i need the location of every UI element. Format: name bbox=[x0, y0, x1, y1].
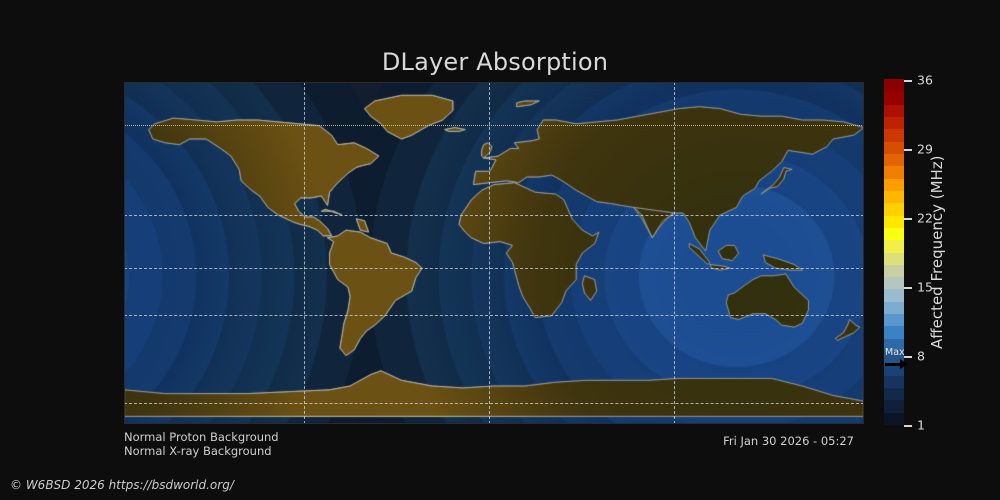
colorbar-band bbox=[884, 326, 904, 339]
colorbar-band bbox=[884, 240, 904, 253]
map-gridlines bbox=[124, 82, 864, 424]
colorbar-band bbox=[884, 129, 904, 142]
page-title: DLayer Absorption bbox=[0, 48, 990, 76]
colorbar-band bbox=[884, 314, 904, 327]
gridline-arctic-circle bbox=[124, 125, 864, 126]
colorbar-band bbox=[884, 104, 904, 117]
colorbar-band bbox=[884, 190, 904, 203]
colorbar-tick-mark bbox=[904, 287, 912, 289]
colorbar-band bbox=[884, 141, 904, 154]
gridline-lon-0 bbox=[489, 82, 490, 424]
gridline-lon-90 bbox=[674, 82, 675, 424]
colorbar-band bbox=[884, 116, 904, 129]
colorbar-band bbox=[884, 400, 904, 413]
colorbar-band bbox=[884, 227, 904, 240]
colorbar-tick-mark bbox=[904, 218, 912, 220]
gridline-equator bbox=[124, 268, 864, 269]
colorbar-band bbox=[884, 252, 904, 265]
colorbar-tick-label: 8 bbox=[917, 349, 925, 364]
colorbar-ticks: 1815222936 bbox=[904, 80, 1000, 425]
colorbar-tick-mark bbox=[904, 80, 912, 82]
world-absorption-map[interactable] bbox=[124, 82, 864, 424]
colorbar-axis-label: Affected Frequency (MHz) bbox=[926, 80, 948, 425]
max-arrow-head-icon bbox=[900, 359, 908, 369]
colorbar-tick-mark bbox=[904, 149, 912, 151]
colorbar-band bbox=[884, 166, 904, 179]
colorbar-band bbox=[884, 375, 904, 388]
colorbar-band bbox=[884, 153, 904, 166]
colorbar-tick-label: 1 bbox=[917, 418, 925, 433]
proton-status-text: Normal Proton Background bbox=[124, 430, 279, 444]
max-marker-label: Max bbox=[885, 348, 905, 358]
colorbar-band bbox=[884, 264, 904, 277]
colorbar-band bbox=[884, 412, 904, 425]
copyright-text: © W6BSD 2026 https://bsdworld.org/ bbox=[10, 478, 234, 492]
gridline-antarctic-circle bbox=[124, 403, 864, 404]
colorbar-band bbox=[884, 387, 904, 400]
colorbar-band bbox=[884, 301, 904, 314]
colorbar-band bbox=[884, 277, 904, 290]
xray-status-text: Normal X-ray Background bbox=[124, 444, 272, 458]
gridline-lon-minus90 bbox=[304, 82, 305, 424]
colorbar-band bbox=[884, 203, 904, 216]
colorbar-tick-mark bbox=[904, 425, 912, 427]
colorbar-gradient bbox=[884, 80, 904, 425]
colorbar-band bbox=[884, 92, 904, 105]
colorbar-band bbox=[884, 79, 904, 92]
timestamp-text: Fri Jan 30 2026 - 05:27 bbox=[723, 434, 854, 448]
colorbar[interactable] bbox=[884, 80, 904, 425]
colorbar-band bbox=[884, 215, 904, 228]
gridline-tropic-cancer bbox=[124, 215, 864, 216]
max-marker: Max bbox=[884, 348, 908, 370]
gridline-tropic-capricorn bbox=[124, 315, 864, 316]
colorbar-band bbox=[884, 289, 904, 302]
colorbar-band bbox=[884, 178, 904, 191]
app-root: DLayer Absorption 1815222936 Affected Fr… bbox=[0, 0, 1000, 500]
